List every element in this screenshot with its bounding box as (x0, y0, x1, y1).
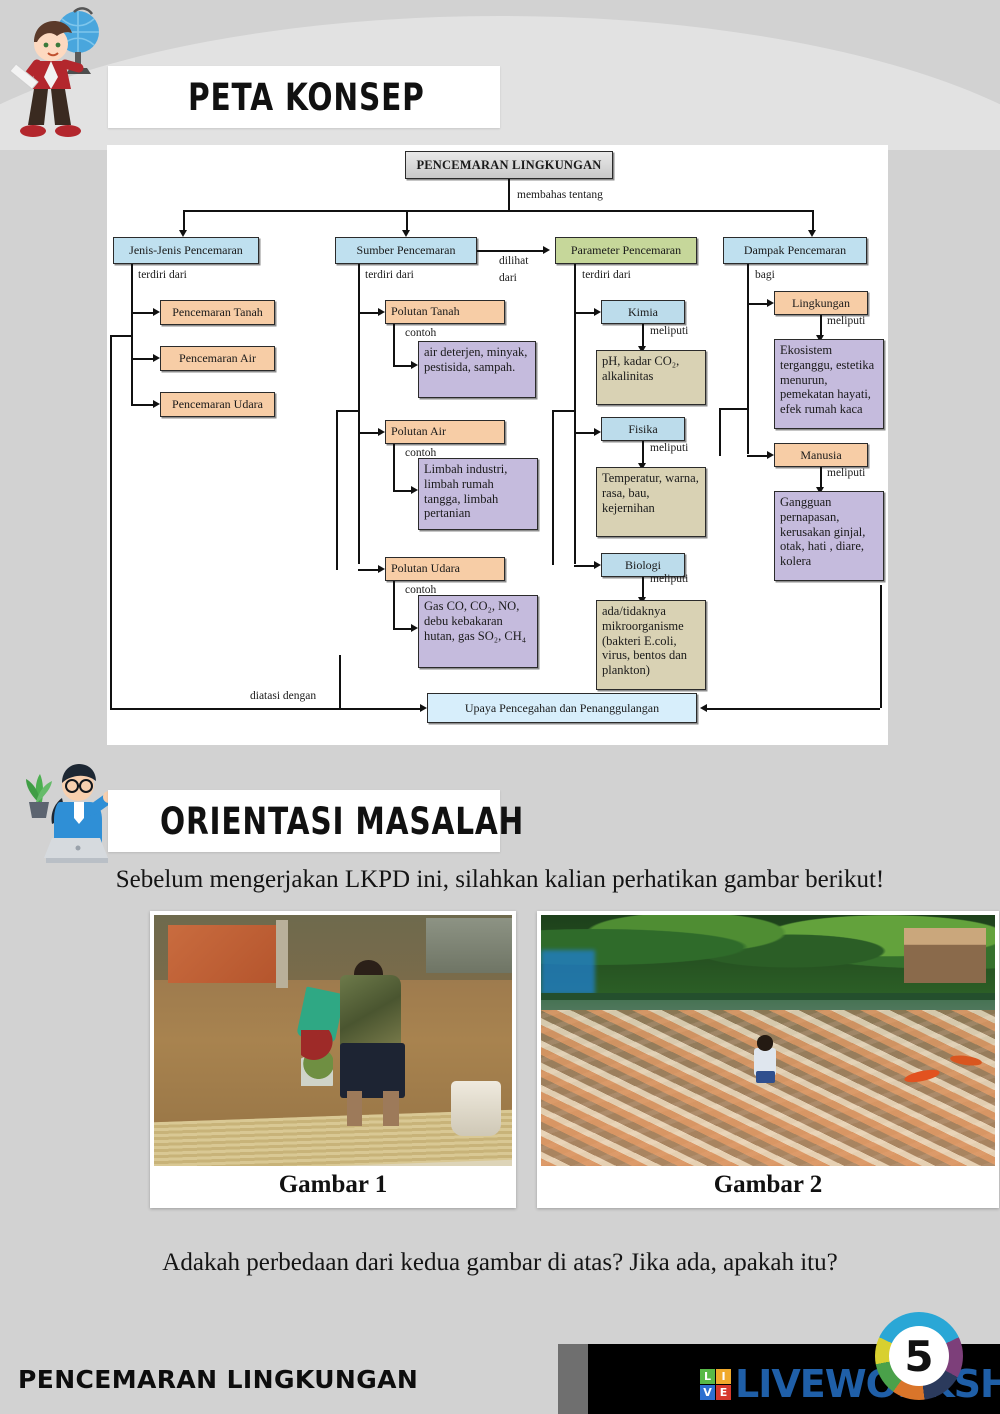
footer-gray-accent (558, 1344, 588, 1414)
node-polutan-udara: Polutan Udara (385, 557, 505, 581)
label-meliputi-4: meliputi (827, 315, 865, 327)
label-meliputi-1: meliputi (650, 325, 688, 337)
intro-instruction-text: Sebelum mengerjakan LKPD ini, silahkan k… (0, 866, 1000, 894)
arrow-right-parameter (543, 246, 550, 254)
connector-parameter-side (552, 410, 554, 565)
node-polutan-tanah: Polutan Tanah (385, 300, 505, 324)
connector-jenis-3 (131, 404, 153, 406)
node-upaya-pencegahan: Upaya Pencegahan dan Penanggulangan (427, 693, 697, 723)
connector-jenis-stem (131, 264, 133, 406)
node-parameter-pencemaran: Parameter Pencemaran (555, 237, 697, 264)
connector-sumber-2 (358, 432, 378, 434)
connector-biologi-down (642, 577, 644, 599)
node-detail-biologi: ada/tidaknya mikroorganisme (bakteri E.c… (596, 600, 706, 690)
connector-drop-4 (812, 210, 814, 230)
arrow-right-parameter-3 (594, 561, 601, 569)
connector-sumber-to-parameter (477, 250, 543, 252)
node-kimia: Kimia (601, 300, 685, 324)
connector-dampak-1 (747, 303, 767, 305)
photo-river-pollution (154, 915, 512, 1166)
boy-with-globe-icon (6, 4, 116, 144)
footer-title: PENCEMARAN LINGKUNGAN (0, 1344, 558, 1414)
node-pencemaran-tanah: Pencemaran Tanah (160, 300, 275, 325)
connector-parameter-2 (574, 432, 594, 434)
connector-right-to-footer (880, 585, 882, 708)
connector-lingkungan-down (820, 315, 822, 337)
label-terdiri-dari-2: terdiri dari (365, 269, 414, 281)
connector-root-bar (183, 210, 813, 212)
arrow-right-sumber-3 (378, 565, 385, 573)
connector-left-join (110, 335, 131, 337)
arrow-right-jenis-2 (153, 354, 160, 362)
page-number-badge: 5 (869, 1306, 969, 1406)
arrow-right-footer (420, 704, 427, 712)
figure-1-caption: Gambar 1 (154, 1166, 512, 1208)
orientasi-title: ORIENTASI MASALAH (160, 800, 524, 843)
connector-fisika-down (642, 441, 644, 465)
orientation-question-text: Adakah perbedaan dari kedua gambar di at… (0, 1249, 1000, 1277)
photo-clear-river-fish (541, 915, 995, 1166)
connector-dampak-side-join (719, 408, 747, 410)
figure-gambar-2: Gambar 2 (537, 911, 999, 1208)
node-manusia: Manusia (774, 443, 868, 467)
connector-contoh-1-h (393, 365, 411, 367)
arrow-right-contoh-1 (411, 361, 418, 369)
connector-manusia-down (820, 467, 822, 489)
connector-contoh-2-h (393, 490, 411, 492)
arrow-right-sumber-1 (378, 308, 385, 316)
logo-letter-e: E (716, 1385, 731, 1400)
connector-jenis-1 (131, 312, 153, 314)
label-bagi: bagi (755, 269, 775, 281)
node-fisika: Fisika (601, 417, 685, 441)
arrow-right-contoh-2 (411, 486, 418, 494)
label-dilihat: dilihat (499, 255, 528, 267)
section-header-orientasi-masalah: ORIENTASI MASALAH (108, 790, 500, 852)
label-meliputi-3: meliputi (650, 573, 688, 585)
node-pencemaran-air: Pencemaran Air (160, 346, 275, 371)
connector-parameter-stem (574, 264, 576, 564)
connector-root-down (508, 179, 510, 211)
connector-sumber-stem (358, 264, 360, 564)
page-number: 5 (889, 1326, 949, 1386)
label-contoh-1: contoh (405, 327, 436, 339)
connector-parameter-3 (574, 565, 594, 567)
connector-sumber-side-join (336, 410, 358, 412)
node-jenis-jenis-pencemaran: Jenis-Jenis Pencemaran (113, 237, 259, 264)
arrow-right-contoh-3 (411, 624, 418, 632)
connector-parameter-1 (574, 312, 594, 314)
page-title: PETA KONSEP (188, 76, 425, 119)
connector-contoh-2-v (393, 444, 395, 491)
connector-sumber-1 (358, 312, 378, 314)
connector-parameter-side-join (552, 410, 574, 412)
arrow-right-jenis-1 (153, 308, 160, 316)
connector-dampak-2 (747, 455, 767, 457)
node-lingkungan: Lingkungan (774, 291, 868, 315)
concept-map-diagram: PENCEMARAN LINGKUNGAN membahas tentang J… (107, 145, 888, 745)
node-root: PENCEMARAN LINGKUNGAN (405, 151, 613, 179)
node-contoh-polutan-tanah: air deterjen, minyak, pestisida, sampah. (418, 341, 536, 398)
label-meliputi-5: meliputi (827, 467, 865, 479)
connector-bottom-left (110, 708, 420, 710)
figure-gambar-1: Gambar 1 (150, 911, 516, 1208)
arrow-right-dampak-2 (767, 451, 774, 459)
node-contoh-polutan-udara: Gas CO, CO₂, NO, debu kebakaran hutan, g… (418, 595, 538, 668)
connector-dampak-side (719, 408, 721, 456)
node-pencemaran-udara: Pencemaran Udara (160, 392, 275, 417)
connector-contoh-1-v (393, 324, 395, 366)
arrow-right-parameter-1 (594, 308, 601, 316)
label-terdiri-dari-1: terdiri dari (138, 269, 187, 281)
label-terdiri-dari-3: terdiri dari (582, 269, 631, 281)
node-dampak-pencemaran: Dampak Pencemaran (723, 237, 867, 264)
connector-drop-2 (406, 210, 408, 230)
node-polutan-air: Polutan Air (385, 420, 505, 444)
arrow-right-sumber-2 (378, 428, 385, 436)
connector-jenis-2 (131, 358, 153, 360)
label-membahas-tentang: membahas tentang (517, 189, 603, 201)
node-detail-kimia: pH, kadar CO₂, alkalinitas (596, 350, 706, 405)
node-detail-lingkungan: Ekosistem terganggu, estetika menurun, p… (774, 339, 884, 429)
connector-sumber-side (336, 410, 338, 570)
label-meliputi-2: meliputi (650, 442, 688, 454)
arrow-down-1 (179, 230, 187, 237)
label-diatasi-dengan: diatasi dengan (250, 690, 316, 702)
arrow-left-footer (700, 704, 707, 712)
arrow-down-2 (402, 230, 410, 237)
connector-drop-1 (183, 210, 185, 230)
connector-sumber-3 (358, 569, 378, 571)
section-header-peta-konsep: PETA KONSEP (108, 66, 500, 128)
node-sumber-pencemaran: Sumber Pencemaran (335, 237, 477, 264)
arrow-right-jenis-3 (153, 400, 160, 408)
figure-2-caption: Gambar 2 (541, 1166, 995, 1208)
connector-contoh-3-v (393, 581, 395, 629)
node-detail-manusia: Gangguan pernapasan, kerusakan ginjal, o… (774, 491, 884, 581)
node-contoh-polutan-air: Limbah industri, limbah rumah tangga, li… (418, 458, 538, 530)
node-detail-fisika: Temperatur, warna, rasa, bau, kejernihan (596, 467, 706, 537)
connector-bottom-right (707, 708, 880, 710)
logo-letter-i: I (716, 1369, 731, 1384)
connector-kimia-down (642, 324, 644, 348)
connector-mid-drop (339, 655, 341, 708)
label-dari: dari (499, 272, 517, 284)
liveworksheets-logo-icon: L I V E (700, 1369, 731, 1400)
connector-left-to-footer (110, 335, 112, 709)
logo-letter-v: V (700, 1385, 715, 1400)
arrow-right-parameter-2 (594, 428, 601, 436)
logo-letter-l: L (700, 1369, 715, 1384)
arrow-right-dampak-1 (767, 299, 774, 307)
connector-contoh-3-h (393, 628, 411, 630)
connector-dampak-stem (747, 264, 749, 454)
arrow-down-4 (808, 230, 816, 237)
